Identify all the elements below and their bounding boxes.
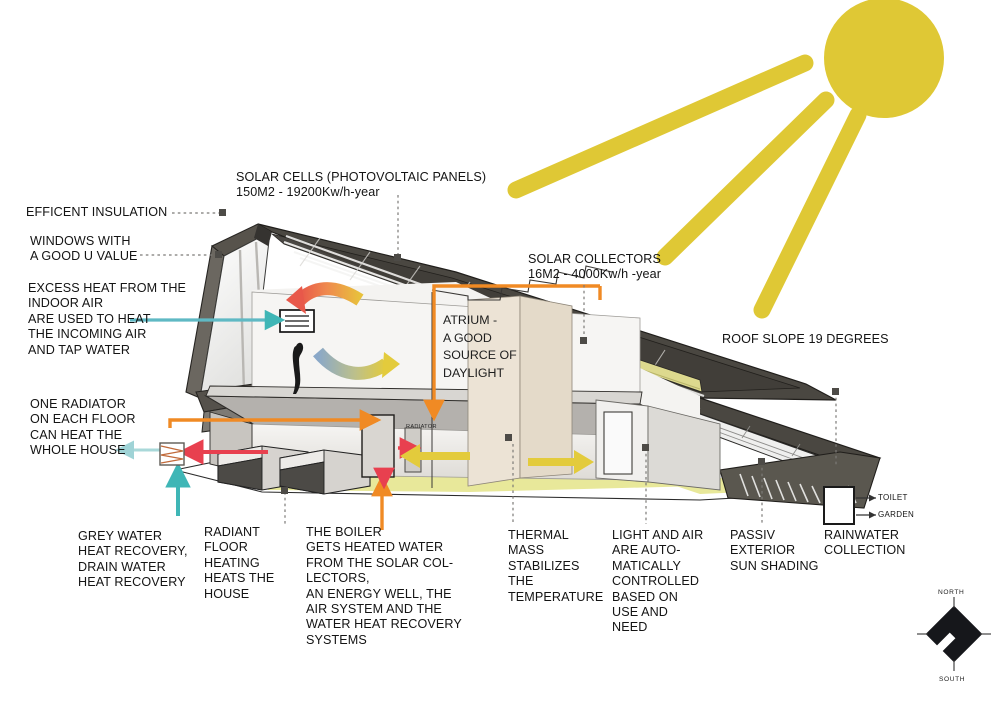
label-passive-shading: PASSIV EXTERIOR SUN SHADING bbox=[730, 528, 819, 574]
label-solar-collectors: SOLAR COLLECTORS 16M2 - 4000Kw/h -year bbox=[528, 252, 661, 283]
label-radiator-tag: RADIATOR bbox=[406, 420, 437, 435]
label-thermal-mass: THERMAL MASS STABILIZES THE TEMPERATURE bbox=[508, 528, 603, 605]
anchor-rainwater bbox=[832, 388, 839, 395]
interior-door bbox=[604, 412, 632, 474]
label-windows-u-value: WINDOWS WITH A GOOD U VALUE bbox=[30, 234, 138, 265]
anchor-sun-shading bbox=[758, 458, 765, 465]
label-garden: GARDEN bbox=[878, 510, 914, 520]
label-rainwater: RAINWATER COLLECTION bbox=[824, 528, 905, 559]
sensor-marker-thermal bbox=[505, 434, 512, 441]
compass-needle bbox=[926, 606, 983, 663]
anchor-solar-collectors bbox=[580, 337, 587, 344]
label-boiler: THE BOILER GETS HEATED WATER FROM THE SO… bbox=[306, 525, 462, 648]
sun-icon bbox=[824, 0, 944, 118]
label-excess-heat: EXCESS HEAT FROM THE INDOOR AIR ARE USED… bbox=[28, 281, 186, 358]
anchor-radiant-floor bbox=[281, 487, 288, 494]
diagram-canvas: SOLAR CELLS (PHOTOVOLTAIC PANELS) 150M2 … bbox=[0, 0, 1000, 704]
label-north: NORTH bbox=[938, 585, 964, 600]
anchor-windows bbox=[215, 251, 222, 258]
label-radiant-floor: RADIANT FLOOR HEATING HEATS THE HOUSE bbox=[204, 525, 274, 602]
label-one-radiator: ONE RADIATOR ON EACH FLOOR CAN HEAT THE … bbox=[30, 397, 136, 459]
anchor-solar-cells bbox=[394, 254, 401, 261]
compass-rose bbox=[917, 597, 991, 671]
anchor-light-air bbox=[642, 444, 649, 451]
label-grey-water: GREY WATER HEAT RECOVERY, DRAIN WATER HE… bbox=[78, 529, 188, 591]
label-roof-slope: ROOF SLOPE 19 DEGREES bbox=[722, 332, 889, 347]
label-south: SOUTH bbox=[939, 672, 965, 687]
label-atrium: ATRIUM - A GOOD SOURCE OF DAYLIGHT bbox=[443, 312, 517, 382]
label-solar-cells: SOLAR CELLS (PHOTOVOLTAIC PANELS) 150M2 … bbox=[236, 170, 486, 201]
rainwater-tank-icon bbox=[824, 487, 854, 524]
label-light-and-air: LIGHT AND AIR ARE AUTO- MATICALLY CONTRO… bbox=[612, 528, 703, 636]
exterior-sun-shading bbox=[720, 452, 880, 508]
anchor-insulation bbox=[219, 209, 226, 216]
boiler-tank bbox=[362, 415, 394, 477]
label-efficient-insulation: EFFICENT INSULATION bbox=[26, 205, 167, 220]
label-toilet: TOILET bbox=[878, 493, 908, 503]
thermal-mass-wall-b bbox=[520, 296, 572, 478]
